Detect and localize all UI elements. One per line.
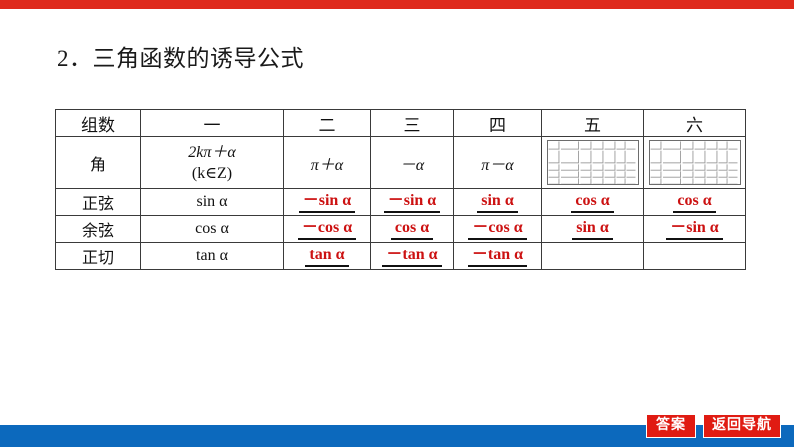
header-cell-group: 组数 xyxy=(56,110,141,137)
angle-cell-3: －α xyxy=(371,137,454,189)
header-label-1: 一 xyxy=(204,116,221,135)
slide-canvas: 2．三角函数的诱导公式 组数 一 二 三 四 五 六 角 2 xyxy=(0,0,794,447)
header-cell-6: 六 xyxy=(644,110,746,137)
answer-button[interactable]: 答案 xyxy=(646,414,696,438)
tangent-cell-6 xyxy=(644,243,746,270)
angle-expr-line1: 2kπ＋α xyxy=(141,142,283,163)
table-header-row: 组数 一 二 三 四 五 六 xyxy=(56,110,746,137)
tangent-cell-5 xyxy=(542,243,644,270)
row-label-sine: 正弦 xyxy=(56,189,141,216)
cosine-cell-2: －cos α xyxy=(284,216,371,243)
header-label-4: 四 xyxy=(489,116,506,135)
header-label-2: 二 xyxy=(319,116,336,135)
sine-cell-6: cos α xyxy=(644,189,746,216)
sine-cell-3: －sin α xyxy=(371,189,454,216)
header-label-3: 三 xyxy=(404,116,421,135)
table-row-cosine: 余弦 cos α －cos α cos α －cos α sin α －sin … xyxy=(56,216,746,243)
header-label-group: 组数 xyxy=(81,116,115,135)
row-label-angle: 角 xyxy=(56,137,141,189)
angle-cell-6 xyxy=(644,137,746,189)
header-label-6: 六 xyxy=(686,116,703,135)
embedded-table-thumbnail-5 xyxy=(547,140,639,185)
header-cell-2: 二 xyxy=(284,110,371,137)
return-nav-button[interactable]: 返回导航 xyxy=(703,414,781,438)
formula-table-container: 组数 一 二 三 四 五 六 角 2kπ＋α (k∈Z) π＋α －α xyxy=(55,109,745,270)
page-title: 2．三角函数的诱导公式 xyxy=(57,42,304,76)
tangent-cell-1: tan α xyxy=(141,243,284,270)
header-cell-1: 一 xyxy=(141,110,284,137)
header-label-5: 五 xyxy=(584,116,601,135)
top-red-band xyxy=(0,0,794,9)
angle-expr-line2: (k∈Z) xyxy=(141,163,283,184)
sine-cell-2: －sin α xyxy=(284,189,371,216)
cosine-cell-4: －cos α xyxy=(454,216,542,243)
cosine-cell-1: cos α xyxy=(141,216,284,243)
header-cell-5: 五 xyxy=(542,110,644,137)
sine-cell-5: cos α xyxy=(542,189,644,216)
sine-cell-4: sin α xyxy=(454,189,542,216)
angle-cell-4: π－α xyxy=(454,137,542,189)
table-row-angle: 角 2kπ＋α (k∈Z) π＋α －α π－α xyxy=(56,137,746,189)
cosine-cell-5: sin α xyxy=(542,216,644,243)
table-row-tangent: 正切 tan α tan α －tan α －tan α xyxy=(56,243,746,270)
row-label-tangent: 正切 xyxy=(56,243,141,270)
tangent-cell-2: tan α xyxy=(284,243,371,270)
tangent-cell-3: －tan α xyxy=(371,243,454,270)
angle-cell-1: 2kπ＋α (k∈Z) xyxy=(141,137,284,189)
embedded-table-thumbnail-6 xyxy=(649,140,741,185)
angle-cell-2: π＋α xyxy=(284,137,371,189)
tangent-cell-4: －tan α xyxy=(454,243,542,270)
header-cell-3: 三 xyxy=(371,110,454,137)
header-cell-4: 四 xyxy=(454,110,542,137)
angle-cell-5 xyxy=(542,137,644,189)
cosine-cell-6: －sin α xyxy=(644,216,746,243)
sine-cell-1: sin α xyxy=(141,189,284,216)
table-row-sine: 正弦 sin α －sin α －sin α sin α cos α cos α xyxy=(56,189,746,216)
row-label-cosine: 余弦 xyxy=(56,216,141,243)
trig-induction-formula-table: 组数 一 二 三 四 五 六 角 2kπ＋α (k∈Z) π＋α －α xyxy=(55,109,746,270)
cosine-cell-3: cos α xyxy=(371,216,454,243)
